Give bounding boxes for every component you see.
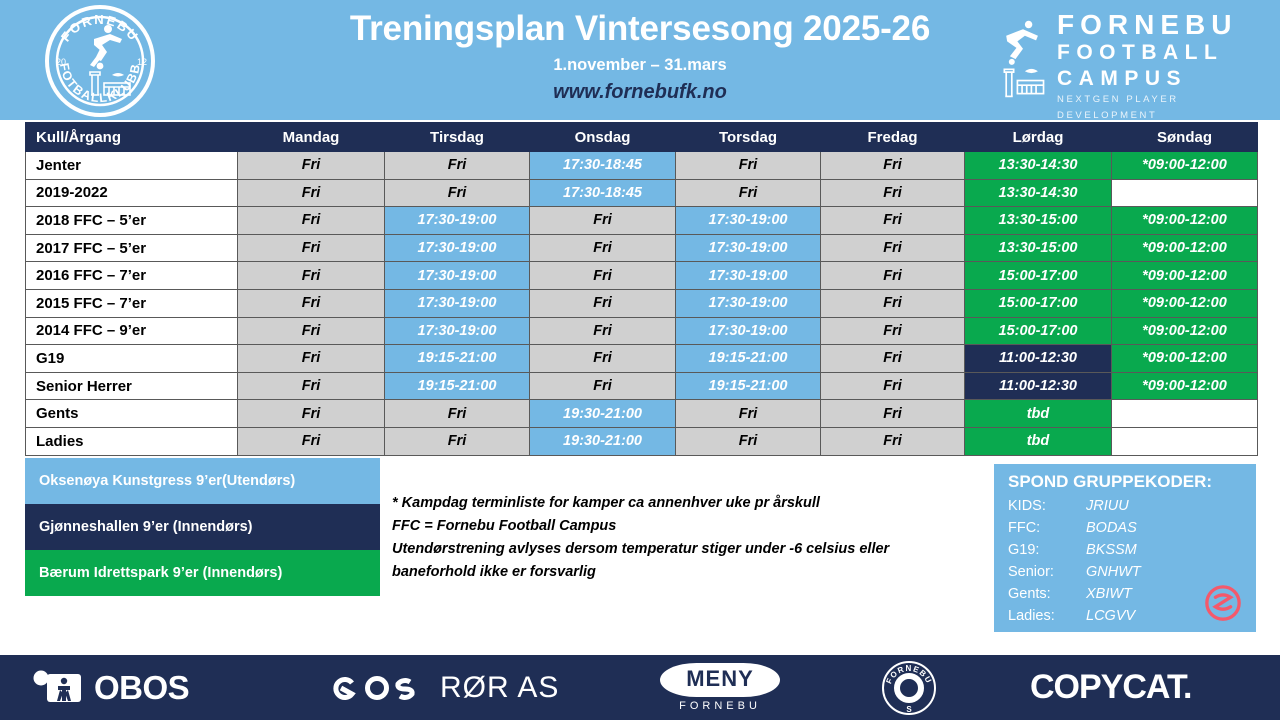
schedule-cell: Fri: [676, 179, 821, 207]
row-label-cell: 2016 FFC – 7’er: [26, 262, 238, 290]
row-label-cell: 2018 FFC – 5’er: [26, 207, 238, 235]
schedule-cell: Fri: [530, 234, 676, 262]
schedule-cell: Fri: [530, 262, 676, 290]
campus-logo-line1: FORNEBU: [1057, 10, 1267, 40]
spond-code-row: KIDS:JRIUU: [994, 495, 1256, 517]
copycat-label: COPYCAT.: [1030, 668, 1191, 707]
table-row: JenterFriFri17:30-18:45FriFri13:30-14:30…: [26, 152, 1258, 180]
schedule-cell: 19:15-21:00: [385, 372, 530, 400]
schedule-cell: *09:00-12:00: [1112, 345, 1258, 373]
column-header-lordag: Lørdag: [965, 123, 1112, 152]
column-header-onsdag: Onsdag: [530, 123, 676, 152]
schedule-cell: Fri: [676, 152, 821, 180]
schedule-cell: 17:30-19:00: [676, 289, 821, 317]
schedule-cell: 13:30-15:00: [965, 207, 1112, 235]
schedule-cell: 19:30-21:00: [530, 400, 676, 428]
meny-label: MENY: [660, 663, 780, 697]
schedule-cell: Fri: [821, 179, 965, 207]
training-schedule-poster: FORNEBU FOTBALLKLUBB 20 12: [0, 0, 1280, 720]
schedule-cell: *09:00-12:00: [1112, 372, 1258, 400]
schedule-cell: 11:00-12:30: [965, 372, 1112, 400]
schedule-cell: *09:00-12:00: [1112, 262, 1258, 290]
schedule-cell: Fri: [821, 289, 965, 317]
fornebu-football-campus-logo: FORNEBU FOOTBALL CAMPUS NEXTGEN PLAYER D…: [995, 10, 1265, 114]
schedule-cell: 19:15-21:00: [676, 372, 821, 400]
spond-code-value: LCGVV: [1086, 608, 1135, 624]
table-row: 2019-2022FriFri17:30-18:45FriFri13:30-14…: [26, 179, 1258, 207]
schedule-cell: Fri: [676, 427, 821, 455]
schedule-cell: Fri: [238, 234, 385, 262]
spond-panel-title: SPOND GRUPPEKODER:: [994, 472, 1256, 492]
schedule-cell: Fri: [238, 152, 385, 180]
schedule-cell: 13:30-15:00: [965, 234, 1112, 262]
schedule-cell: 15:00-17:00: [965, 262, 1112, 290]
fornebu-s-mark-icon: FORNEBU S: [880, 659, 938, 717]
svg-text:20: 20: [56, 57, 66, 67]
table-header-row: Kull/Årgang Mandag Tirsdag Onsdag Torsda…: [26, 123, 1258, 152]
schedule-cell: [1112, 427, 1258, 455]
legend-item-baerum: Bærum Idrettspark 9’er (Innendørs): [25, 550, 380, 596]
sponsor-eos-ror: RØR AS: [330, 655, 559, 720]
spond-logo-icon: [1204, 584, 1242, 622]
column-header-mandag: Mandag: [238, 123, 385, 152]
schedule-cell: Fri: [821, 345, 965, 373]
schedule-cell: 17:30-19:00: [385, 317, 530, 345]
spond-code-key: FFC:: [1008, 517, 1086, 539]
row-label-cell: 2015 FFC – 7’er: [26, 289, 238, 317]
obos-mark-icon: [30, 668, 86, 708]
table-row: GentsFriFri19:30-21:00FriFritbd: [26, 400, 1258, 428]
schedule-cell: Fri: [238, 289, 385, 317]
spond-code-row: G19:BKSSM: [994, 539, 1256, 561]
schedule-cell: 17:30-19:00: [385, 234, 530, 262]
schedule-cell: 11:00-12:30: [965, 345, 1112, 373]
spond-code-key: G19:: [1008, 539, 1086, 561]
row-label-cell: 2019-2022: [26, 179, 238, 207]
table-row: Senior HerrerFri19:15-21:00Fri19:15-21:0…: [26, 372, 1258, 400]
schedule-cell: 17:30-19:00: [676, 317, 821, 345]
schedule-cell: Fri: [385, 152, 530, 180]
eos-label: RØR AS: [440, 671, 559, 705]
spond-code-value: GNHWT: [1086, 564, 1141, 580]
footnote-line-3: Utendørstrening avlyses dersom temperatu…: [392, 538, 972, 561]
row-label-cell: Ladies: [26, 427, 238, 455]
table-row: LadiesFriFri19:30-21:00FriFritbd: [26, 427, 1258, 455]
schedule-cell: 17:30-18:45: [530, 179, 676, 207]
schedule-cell: Fri: [821, 400, 965, 428]
schedule-cell: Fri: [530, 345, 676, 373]
spond-code-value: BODAS: [1086, 520, 1137, 536]
svg-text:12: 12: [137, 57, 147, 67]
column-header-kull: Kull/Årgang: [26, 123, 238, 152]
row-label-cell: 2014 FFC – 9’er: [26, 317, 238, 345]
schedule-cell: Fri: [821, 427, 965, 455]
row-label-cell: 2017 FFC – 5’er: [26, 234, 238, 262]
svg-text:S: S: [906, 705, 912, 714]
page-title: Treningsplan Vintersesong 2025-26: [270, 8, 1010, 50]
obos-label: OBOS: [94, 669, 189, 707]
schedule-cell: 17:30-19:00: [385, 289, 530, 317]
schedule-cell: Fri: [821, 234, 965, 262]
sponsor-bar: OBOS RØR AS MENY FORNEBU: [0, 655, 1280, 720]
schedule-cell: Fri: [238, 372, 385, 400]
schedule-cell: *09:00-12:00: [1112, 234, 1258, 262]
schedule-cell: *09:00-12:00: [1112, 207, 1258, 235]
schedule-cell: 15:00-17:00: [965, 317, 1112, 345]
schedule-cell: 13:30-14:30: [965, 152, 1112, 180]
sponsor-obos: OBOS: [30, 655, 189, 720]
row-label-cell: Senior Herrer: [26, 372, 238, 400]
schedule-cell: Fri: [821, 372, 965, 400]
schedule-cell: 19:30-21:00: [530, 427, 676, 455]
legend-item-outdoor: Oksenøya Kunstgress 9’er(Utendørs): [25, 458, 380, 504]
schedule-cell: 17:30-18:45: [530, 152, 676, 180]
column-header-torsdag: Torsdag: [676, 123, 821, 152]
schedule-cell: tbd: [965, 427, 1112, 455]
schedule-cell: 17:30-19:00: [676, 262, 821, 290]
sponsor-fornebu-s: FORNEBU S: [880, 655, 938, 720]
spond-code-key: Senior:: [1008, 561, 1086, 583]
schedule-cell: Fri: [821, 152, 965, 180]
schedule-cell: Fri: [385, 427, 530, 455]
schedule-cell: 17:30-19:00: [676, 234, 821, 262]
table-row: 2016 FFC – 7’erFri17:30-19:00Fri17:30-19…: [26, 262, 1258, 290]
venue-legend: Oksenøya Kunstgress 9’er(Utendørs) Gjønn…: [25, 458, 380, 596]
schedule-cell: Fri: [238, 262, 385, 290]
schedule-cell: Fri: [676, 400, 821, 428]
column-header-sondag: Søndag: [1112, 123, 1258, 152]
row-label-cell: G19: [26, 345, 238, 373]
table-row: 2017 FFC – 5’erFri17:30-19:00Fri17:30-19…: [26, 234, 1258, 262]
schedule-cell: Fri: [821, 207, 965, 235]
schedule-cell: 19:15-21:00: [676, 345, 821, 373]
spond-code-key: Ladies:: [1008, 605, 1086, 627]
schedule-cell: 19:15-21:00: [385, 345, 530, 373]
footnote-line-2: FFC = Fornebu Football Campus: [392, 515, 972, 538]
club-crest-icon: FORNEBU FOTBALLKLUBB 20 12: [32, 5, 168, 117]
schedule-cell: Fri: [530, 372, 676, 400]
schedule-cell: Fri: [238, 179, 385, 207]
schedule-cell: 17:30-19:00: [385, 207, 530, 235]
meny-sublabel: FORNEBU: [660, 700, 780, 712]
spond-code-key: KIDS:: [1008, 495, 1086, 517]
schedule-cell: Fri: [238, 427, 385, 455]
spond-code-value: JRIUU: [1086, 498, 1129, 514]
schedule-cell: Fri: [385, 179, 530, 207]
website-link[interactable]: www.fornebufk.no: [270, 81, 1010, 104]
table-row: 2015 FFC – 7’erFri17:30-19:00Fri17:30-19…: [26, 289, 1258, 317]
schedule-cell: *09:00-12:00: [1112, 317, 1258, 345]
schedule-cell: 15:00-17:00: [965, 289, 1112, 317]
schedule-table: Kull/Årgang Mandag Tirsdag Onsdag Torsda…: [25, 122, 1258, 456]
table-row: G19Fri19:15-21:00Fri19:15-21:00Fri11:00-…: [26, 345, 1258, 373]
schedule-cell: Fri: [821, 262, 965, 290]
spond-code-key: Gents:: [1008, 583, 1086, 605]
schedule-cell: tbd: [965, 400, 1112, 428]
schedule-cell: Fri: [238, 345, 385, 373]
schedule-table-body: JenterFriFri17:30-18:45FriFri13:30-14:30…: [26, 152, 1258, 456]
footnote-line-1: * Kampdag terminliste for kamper ca anne…: [392, 492, 972, 515]
legend-item-gjonneshallen: Gjønneshallen 9’er (Innendørs): [25, 504, 380, 550]
schedule-cell: 17:30-19:00: [676, 207, 821, 235]
schedule-cell: Fri: [238, 400, 385, 428]
table-row: 2014 FFC – 9’erFri17:30-19:00Fri17:30-19…: [26, 317, 1258, 345]
table-row: 2018 FFC – 5’erFri17:30-19:00Fri17:30-19…: [26, 207, 1258, 235]
season-dates: 1.november – 31.mars: [270, 56, 1010, 75]
header-banner: FORNEBU FOTBALLKLUBB 20 12: [0, 0, 1280, 120]
footnote-line-4: baneforhold ikke er forsvarlig: [392, 561, 972, 584]
title-block: Treningsplan Vintersesong 2025-26 1.nove…: [270, 8, 1010, 104]
schedule-cell: 17:30-19:00: [385, 262, 530, 290]
schedule-cell: Fri: [530, 207, 676, 235]
row-label-cell: Jenter: [26, 152, 238, 180]
schedule-cell: *09:00-12:00: [1112, 289, 1258, 317]
schedule-cell: Fri: [238, 317, 385, 345]
schedule-cell: Fri: [385, 400, 530, 428]
column-header-fredag: Fredag: [821, 123, 965, 152]
schedule-cell: Fri: [238, 207, 385, 235]
spond-code-row: Senior:GNHWT: [994, 561, 1256, 583]
spond-group-codes-panel: SPOND GRUPPEKODER: KIDS:JRIUUFFC:BODASG1…: [994, 464, 1256, 632]
campus-logo-line3: CAMPUS: [1057, 66, 1267, 92]
schedule-cell: Fri: [530, 289, 676, 317]
schedule-cell: [1112, 400, 1258, 428]
schedule-cell: *09:00-12:00: [1112, 152, 1258, 180]
campus-logo-tagline: NEXTGEN PLAYER DEVELOPMENT: [1057, 92, 1267, 124]
schedule-cell: [1112, 179, 1258, 207]
schedule-cell: Fri: [530, 317, 676, 345]
row-label-cell: Gents: [26, 400, 238, 428]
schedule-cell: 13:30-14:30: [965, 179, 1112, 207]
sponsor-meny-fornebu: MENY FORNEBU: [660, 655, 780, 720]
eos-mark-icon: [330, 668, 430, 708]
spond-code-value: BKSSM: [1086, 542, 1137, 558]
spond-code-row: FFC:BODAS: [994, 517, 1256, 539]
sponsor-copycat: COPYCAT.: [1030, 655, 1191, 720]
schedule-cell: Fri: [821, 317, 965, 345]
campus-logo-line2: FOOTBALL: [1057, 40, 1267, 66]
column-header-tirsdag: Tirsdag: [385, 123, 530, 152]
footnotes: * Kampdag terminliste for kamper ca anne…: [392, 492, 972, 584]
spond-code-value: XBIWT: [1086, 586, 1132, 602]
